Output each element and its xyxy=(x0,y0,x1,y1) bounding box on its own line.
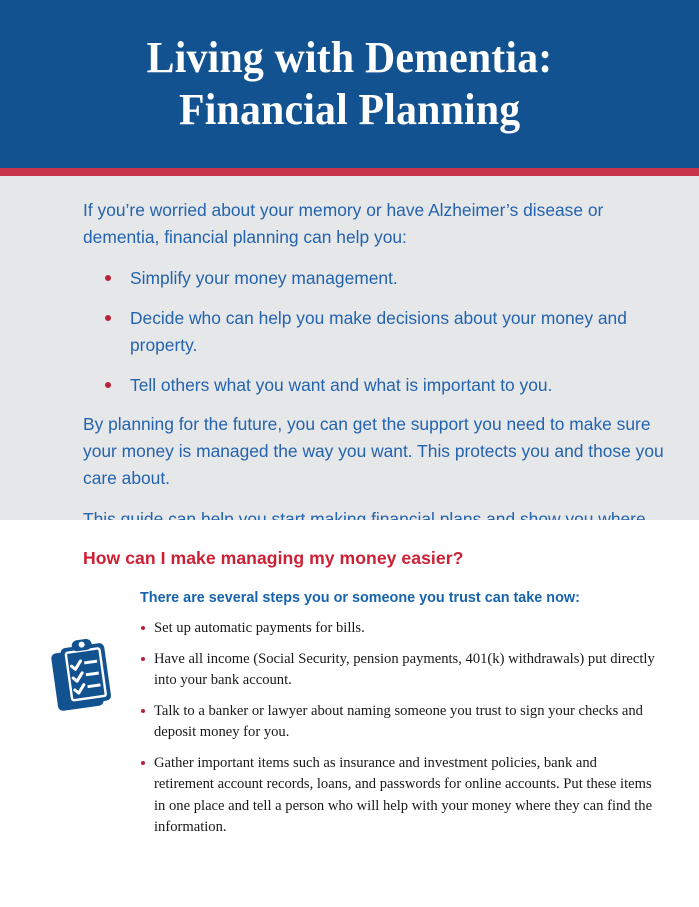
bullet-dot-icon xyxy=(141,626,145,630)
brochure-page: Living with Dementia: Financial Planning… xyxy=(0,0,699,907)
page-title-line-1: Living with Dementia: xyxy=(147,32,553,84)
list-item: Decide who can help you make decisions a… xyxy=(103,305,640,359)
bullet-dot-icon xyxy=(105,275,111,281)
bullet-dot-icon xyxy=(141,657,145,661)
list-item-label: Gather important items such as insurance… xyxy=(154,755,652,836)
list-item-label: Simplify your money management. xyxy=(130,268,398,288)
bullet-dot-icon xyxy=(141,709,145,713)
list-item: Gather important items such as insurance… xyxy=(140,753,660,839)
list-item-label: Set up automatic payments for bills. xyxy=(154,620,365,636)
bullet-dot-icon xyxy=(105,382,111,388)
managing-money-section: How can I make managing my money easier?… xyxy=(0,520,699,907)
section-heading: How can I make managing my money easier? xyxy=(83,548,463,569)
list-item-label: Talk to a banker or lawyer about naming … xyxy=(154,703,643,741)
list-item-label: Decide who can help you make decisions a… xyxy=(130,308,627,355)
list-item: Have all income (Social Security, pensio… xyxy=(140,649,660,692)
header-banner: Living with Dementia: Financial Planning xyxy=(0,0,699,168)
header-accent-rule xyxy=(0,168,699,176)
list-item: Tell others what you want and what is im… xyxy=(103,372,640,399)
list-item-label: Tell others what you want and what is im… xyxy=(130,375,552,395)
intro-benefits-list: Simplify your money management. Decide w… xyxy=(83,265,673,399)
intro-paragraph-2: By planning for the future, you can get … xyxy=(83,411,669,492)
list-item: Set up automatic payments for bills. xyxy=(140,618,660,640)
section-subheading: There are several steps you or someone y… xyxy=(140,590,580,606)
list-item-label: Have all income (Social Security, pensio… xyxy=(154,651,655,689)
list-item: Talk to a banker or lawyer about naming … xyxy=(140,701,660,744)
intro-content: If you’re worried about your memory or h… xyxy=(83,197,673,574)
intro-band: If you’re worried about your memory or h… xyxy=(0,176,699,520)
clipboard-checklist-icon xyxy=(50,638,112,714)
intro-lead-paragraph: If you’re worried about your memory or h… xyxy=(83,197,623,251)
bullet-dot-icon xyxy=(141,761,145,765)
bullet-dot-icon xyxy=(105,315,111,321)
steps-list: Set up automatic payments for bills. Hav… xyxy=(140,618,660,839)
list-item: Simplify your money management. xyxy=(103,265,640,292)
page-title-line-2: Financial Planning xyxy=(179,84,520,136)
